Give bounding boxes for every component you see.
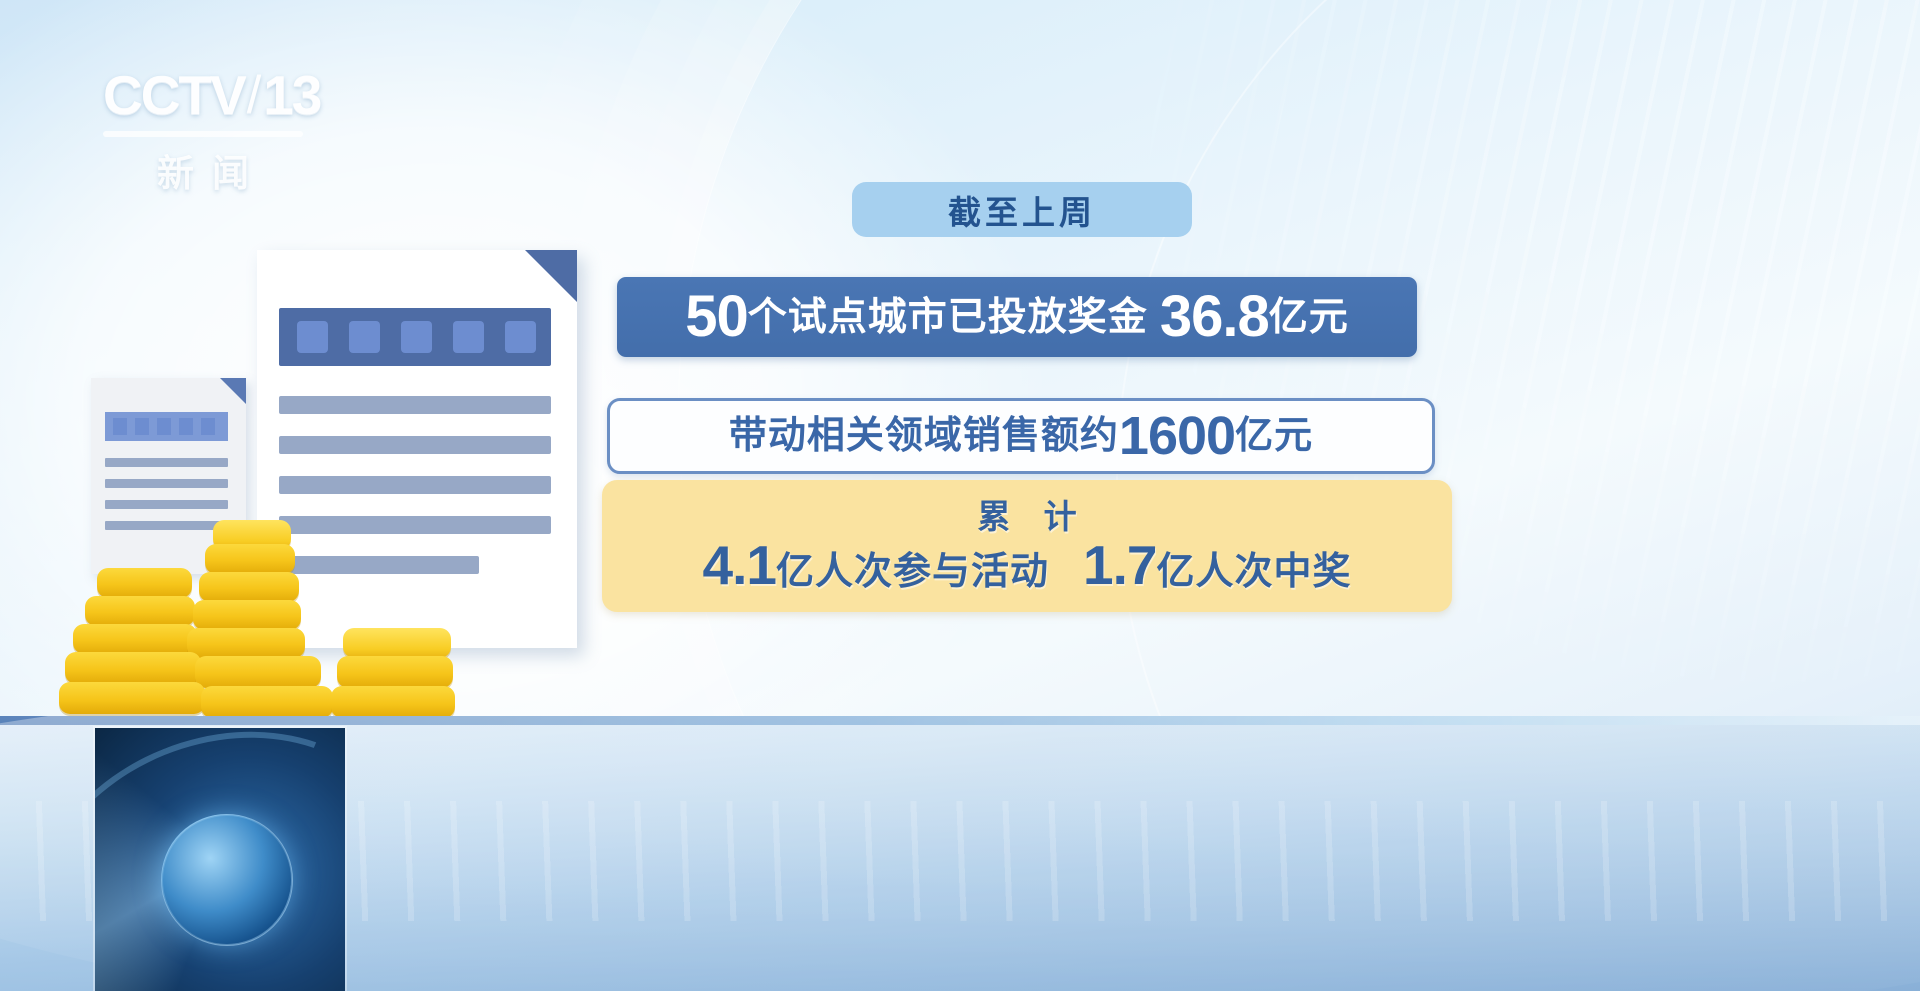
broadcast-graphic: CCTV / 13 新闻 [0, 0, 1920, 991]
logo-rule [103, 131, 303, 137]
background-rays [1100, 0, 1920, 720]
ticker-thumbnail [95, 728, 345, 991]
stat-label-participants: 亿人次参与活动 [776, 553, 1049, 591]
stat-unit-sales-driven: 亿元 [1235, 417, 1313, 455]
globe-meridian [161, 814, 293, 946]
stat-unit-bonus-amount: 亿元 [1269, 298, 1349, 337]
logo-channel-number: 13 [263, 63, 320, 127]
stat-label-winners: 亿人次中奖 [1156, 553, 1351, 591]
logo-cctv-text: CCTV [103, 63, 245, 127]
document-header-band [279, 308, 551, 366]
stat-value-bonus-amount: 36.8 [1160, 288, 1269, 346]
document-text-line [279, 436, 551, 454]
logo-wordmark: CCTV / 13 [103, 63, 323, 127]
stat-value-sales-driven: 1600 [1119, 409, 1235, 463]
logo-slash: / [247, 65, 259, 125]
stat-row-sales-driven: 带动相关领域销售额约 1600 亿元 [607, 398, 1435, 474]
document-text-line [105, 458, 228, 467]
illustration [55, 240, 595, 720]
document-text-line [279, 476, 551, 494]
stat-label-cumulative: 累 计 [965, 499, 1088, 535]
header-pill: 截至上周 [852, 182, 1192, 237]
document-header-band [105, 412, 228, 441]
stat-row-cumulative: 累 计 4.1 亿人次参与活动 1.7 亿人次中奖 [602, 480, 1452, 612]
page-fold-icon [525, 250, 577, 302]
document-text-line [105, 500, 228, 509]
document-text-line [279, 396, 551, 414]
stat-label-sales-driven: 带动相关领域销售额约 [729, 417, 1119, 455]
stat-value-pilot-cities: 50 [685, 288, 748, 346]
stat-row-bonus-paid: 50 个试点城市已投放奖金 36.8 亿元 [617, 277, 1417, 357]
stat-value-participants: 4.1 [703, 538, 776, 593]
cctv13-logo: CCTV / 13 新闻 [103, 63, 323, 183]
document-text-line [105, 479, 228, 488]
header-pill-label: 截至上周 [948, 186, 1096, 234]
page-fold-icon [220, 378, 246, 404]
logo-subtitle: 新闻 [103, 143, 303, 197]
stat-value-winners: 1.7 [1083, 538, 1156, 593]
coin-stack-icon [55, 520, 475, 720]
stat-cumulative-values: 4.1 亿人次参与活动 1.7 亿人次中奖 [703, 538, 1352, 593]
stat-label-pilot-cities: 个试点城市已投放奖金 [748, 298, 1148, 337]
